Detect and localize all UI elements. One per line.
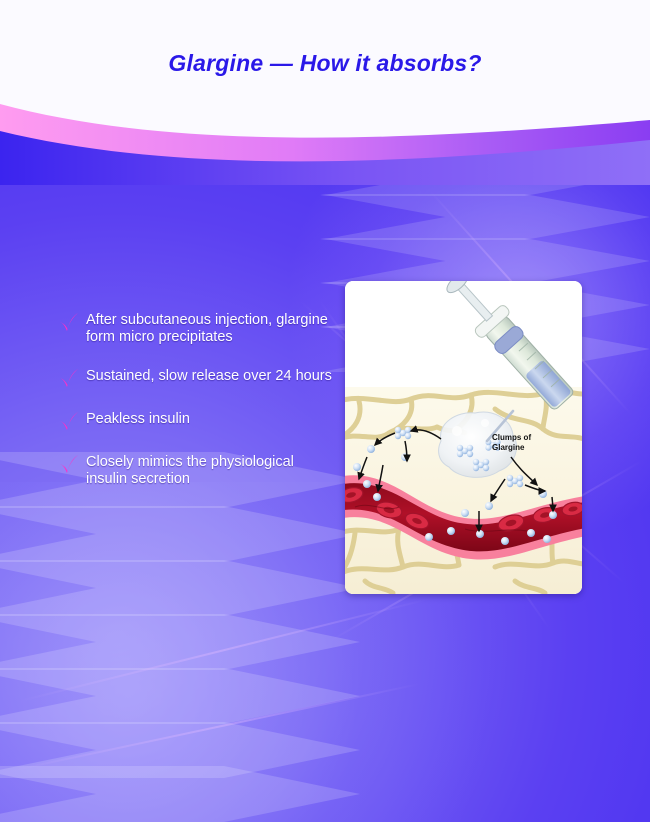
list-item: After subcutaneous injection, glargine f… bbox=[58, 312, 338, 346]
list-item: Sustained, slow release over 24 hours bbox=[58, 368, 338, 389]
list-item-label: Sustained, slow release over 24 hours bbox=[86, 368, 332, 385]
illustration-caption: Clumps of Glargine bbox=[492, 433, 570, 452]
check-icon bbox=[58, 313, 80, 333]
caption-line-1: Clumps of bbox=[492, 433, 570, 443]
list-item-label: Peakless insulin bbox=[86, 411, 190, 428]
caption-line-2: Glargine bbox=[492, 443, 570, 453]
list-item: Peakless insulin bbox=[58, 411, 338, 432]
bullet-list: After subcutaneous injection, glargine f… bbox=[58, 312, 338, 510]
list-item-label: Closely mimics the physiological insulin… bbox=[86, 454, 338, 488]
slide: Glargine — How it absorbs? After subcuta… bbox=[0, 0, 650, 822]
list-item: Closely mimics the physiological insulin… bbox=[58, 454, 338, 488]
check-icon bbox=[58, 369, 80, 389]
check-icon bbox=[58, 455, 80, 475]
page-title: Glargine — How it absorbs? bbox=[0, 50, 650, 77]
illustration-panel: Clumps of Glargine bbox=[345, 281, 582, 594]
header-banner bbox=[0, 0, 650, 185]
list-item-label: After subcutaneous injection, glargine f… bbox=[86, 312, 338, 346]
check-icon bbox=[58, 412, 80, 432]
